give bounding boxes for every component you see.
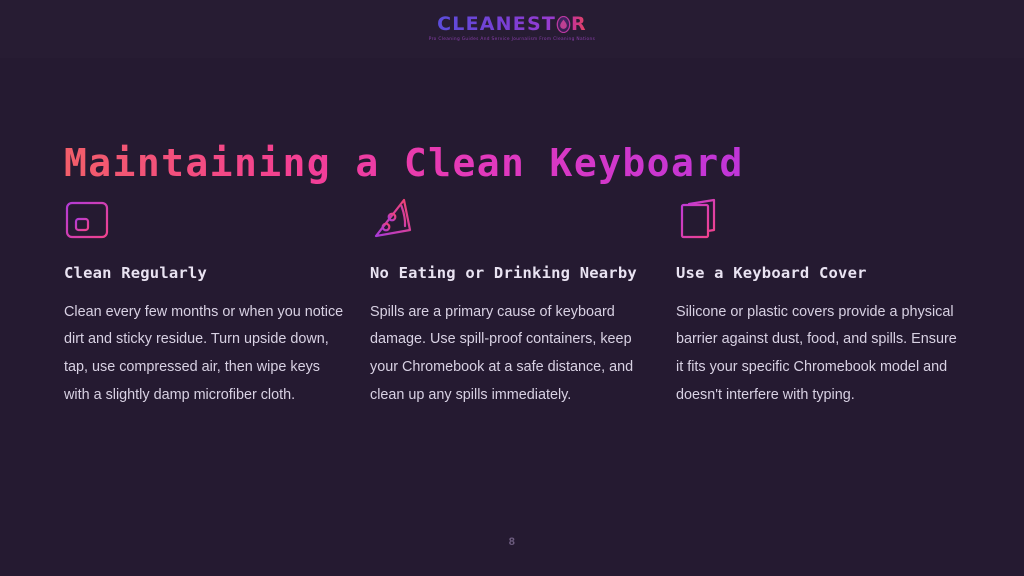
book-cover-icon bbox=[676, 196, 961, 244]
page-number: 8 bbox=[0, 536, 1024, 548]
page-title: Maintaining a Clean Keyboard bbox=[64, 141, 744, 185]
tip-heading: No Eating or Drinking Nearby bbox=[370, 260, 655, 287]
pizza-slice-icon bbox=[370, 196, 655, 244]
tips-columns: Clean Regularly Clean every few months o… bbox=[64, 196, 962, 410]
tip-body: Clean every few months or when you notic… bbox=[64, 299, 349, 410]
site-header: CLEANEST R Pro Cleaning Guides And Ser bbox=[0, 0, 1024, 58]
tip-heading: Use a Keyboard Cover bbox=[676, 260, 961, 287]
brand-tagline: Pro Cleaning Guides And Service Journali… bbox=[429, 38, 595, 43]
brand-logo-text-part-1: CLEANEST bbox=[437, 15, 556, 34]
brand-logo-text: CLEANEST R bbox=[437, 15, 587, 34]
tip-card-keyboard-cover: Use a Keyboard Cover Silicone or plastic… bbox=[676, 196, 961, 410]
calendar-icon bbox=[64, 196, 349, 244]
droplet-badge-icon bbox=[556, 16, 571, 33]
tip-card-no-eating-drinking: No Eating or Drinking Nearby Spills are … bbox=[370, 196, 655, 410]
brand-logo[interactable]: CLEANEST R Pro Cleaning Guides And Ser bbox=[429, 15, 595, 42]
tip-heading: Clean Regularly bbox=[64, 260, 349, 287]
tip-card-clean-regularly: Clean Regularly Clean every few months o… bbox=[64, 196, 349, 410]
tip-body: Spills are a primary cause of keyboard d… bbox=[370, 299, 655, 410]
tip-body: Silicone or plastic covers provide a phy… bbox=[676, 299, 961, 410]
brand-logo-text-part-2: R bbox=[571, 15, 587, 34]
